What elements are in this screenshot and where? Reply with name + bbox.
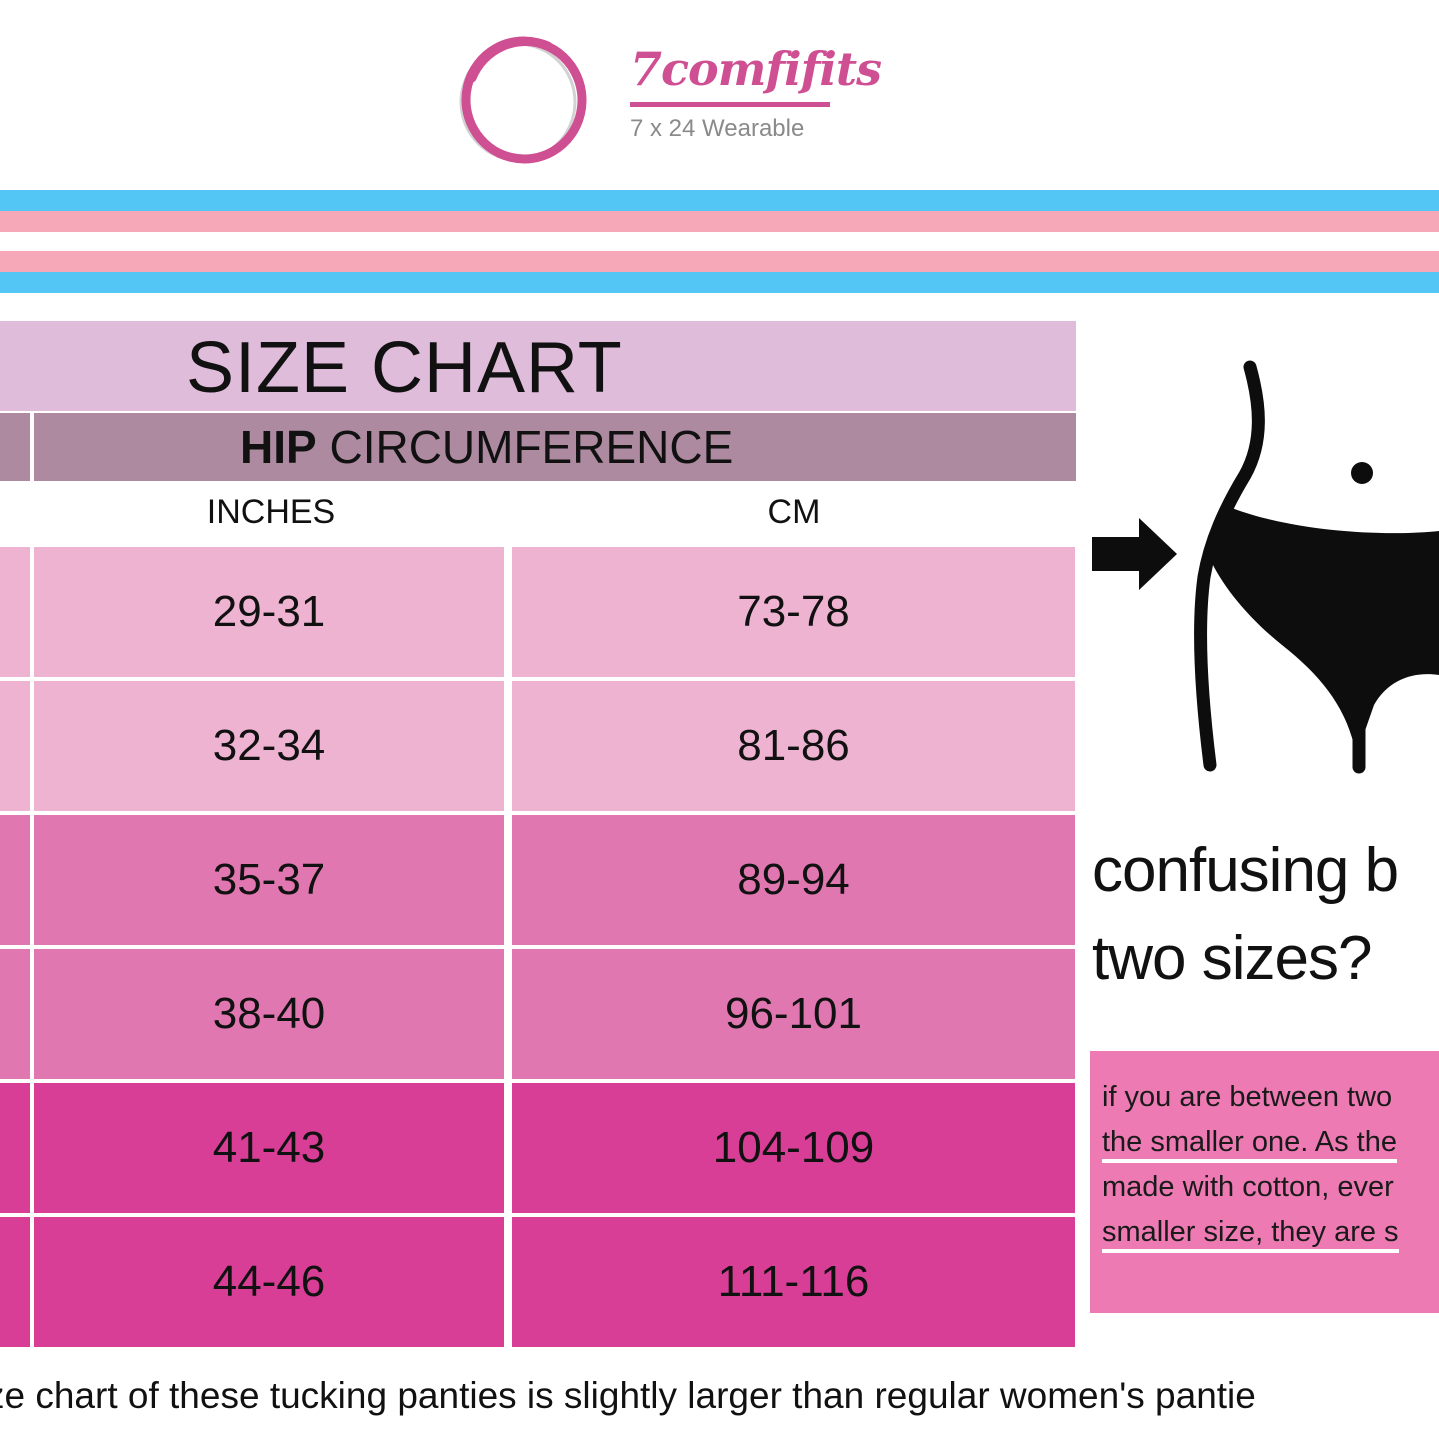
- right-arrow-icon: [1092, 518, 1177, 590]
- brand-logo-block: 7comfifits 7 x 24 Wearable: [452, 18, 852, 168]
- stripe-pink-bottom: [0, 251, 1439, 272]
- info-line-4: smaller size, they are s: [1102, 1210, 1439, 1255]
- size-chart-title-band: SIZE CHART: [0, 321, 1076, 411]
- row-stub-cell: [0, 547, 30, 677]
- table-row: 35-37 89-94: [0, 815, 1076, 949]
- info-line-4-underlined: smaller size, they are s: [1102, 1216, 1399, 1253]
- cell-value: 73-78: [737, 587, 850, 637]
- stripe-blue-bottom: [0, 272, 1439, 293]
- table-row: 44-46 111-116: [0, 1217, 1076, 1351]
- table-row: 41-43 104-109: [0, 1083, 1076, 1217]
- info-line-3: made with cotton, ever: [1102, 1165, 1439, 1210]
- subtitle-bold-word: HIP: [240, 421, 317, 473]
- stripe-pink-top: [0, 211, 1439, 232]
- subtitle-band-stub: [0, 413, 30, 481]
- stripe-white-middle: [0, 232, 1439, 251]
- brand-name: 7comfifits: [630, 40, 850, 98]
- row-stub-cell: [0, 1217, 30, 1347]
- footer-caption: ze chart of these tucking panties is sli…: [0, 1370, 1439, 1422]
- transgender-pride-stripes: [0, 190, 1439, 293]
- sizing-advice-text: if you are between two the smaller one. …: [1102, 1075, 1439, 1255]
- cell-value: 41-43: [213, 1123, 326, 1173]
- cell-cm: 73-78: [512, 547, 1075, 677]
- cell-cm: 111-116: [512, 1217, 1075, 1347]
- row-stub-cell: [0, 815, 30, 945]
- subtitle-text: HIP CIRCUMFERENCE: [240, 419, 733, 475]
- table-row: 38-40 96-101: [0, 949, 1076, 1083]
- column-header-inches: INCHES: [34, 493, 508, 532]
- headline-line-1: confusing b: [1092, 827, 1439, 915]
- brand-text-block: 7comfifits 7 x 24 Wearable: [630, 40, 850, 160]
- cell-value: 111-116: [718, 1257, 870, 1307]
- cell-value: 38-40: [213, 989, 326, 1039]
- size-chart-table: SIZE CHART HIP CIRCUMFERENCE INCHES CM 2…: [0, 293, 1076, 1356]
- headline-line-2: two sizes?: [1092, 915, 1439, 1003]
- table-row: 29-31 73-78: [0, 547, 1076, 681]
- hip-measure-figure-icon: [1082, 345, 1439, 795]
- row-stub-cell: [0, 681, 30, 811]
- cell-value: 81-86: [737, 721, 850, 771]
- sizing-advice-box: if you are between two the smaller one. …: [1090, 1051, 1439, 1313]
- table-row: 32-34 81-86: [0, 681, 1076, 815]
- side-panel-headline: confusing b two sizes?: [1092, 827, 1439, 1003]
- footer-caption-bar: ze chart of these tucking panties is sli…: [0, 1356, 1439, 1439]
- cell-value: 89-94: [737, 855, 850, 905]
- circle-ring-icon: [452, 30, 592, 170]
- row-stub-cell: [0, 949, 30, 1079]
- row-stub-cell: [0, 1083, 30, 1213]
- column-header-row: INCHES CM: [0, 481, 1076, 547]
- cell-inches: 32-34: [34, 681, 504, 811]
- cell-inches: 38-40: [34, 949, 504, 1079]
- cell-value: 96-101: [725, 989, 862, 1039]
- info-line-1: if you are between two: [1102, 1075, 1439, 1120]
- cell-cm: 89-94: [512, 815, 1075, 945]
- cell-value: 104-109: [713, 1123, 874, 1173]
- info-line-2-underlined: the smaller one. As the: [1102, 1126, 1397, 1163]
- stripe-blue-top: [0, 190, 1439, 211]
- cell-cm: 81-86: [512, 681, 1075, 811]
- cell-value: 29-31: [213, 587, 326, 637]
- cell-inches: 44-46: [34, 1217, 504, 1347]
- cell-inches: 35-37: [34, 815, 504, 945]
- subtitle-band: HIP CIRCUMFERENCE: [34, 413, 1076, 481]
- table-body: 29-31 73-78 32-34 81-86 35-37 89-94: [0, 547, 1076, 1351]
- cell-cm: 96-101: [512, 949, 1075, 1079]
- cell-inches: 41-43: [34, 1083, 504, 1213]
- brand-tagline: 7 x 24 Wearable: [630, 115, 850, 143]
- cell-cm: 104-109: [512, 1083, 1075, 1213]
- cell-value: 44-46: [213, 1257, 326, 1307]
- brand-divider: [630, 102, 830, 107]
- side-panel: confusing b two sizes? if you are betwee…: [1076, 293, 1439, 1356]
- cell-value: 35-37: [213, 855, 326, 905]
- cell-inches: 29-31: [34, 547, 504, 677]
- page-header: 7comfifits 7 x 24 Wearable: [0, 0, 1439, 190]
- cell-value: 32-34: [213, 721, 326, 771]
- info-line-2: the smaller one. As the: [1102, 1120, 1439, 1165]
- subtitle-rest-word: CIRCUMFERENCE: [317, 421, 734, 473]
- column-header-cm: CM: [512, 493, 1076, 532]
- page-title: SIZE CHART: [186, 333, 623, 403]
